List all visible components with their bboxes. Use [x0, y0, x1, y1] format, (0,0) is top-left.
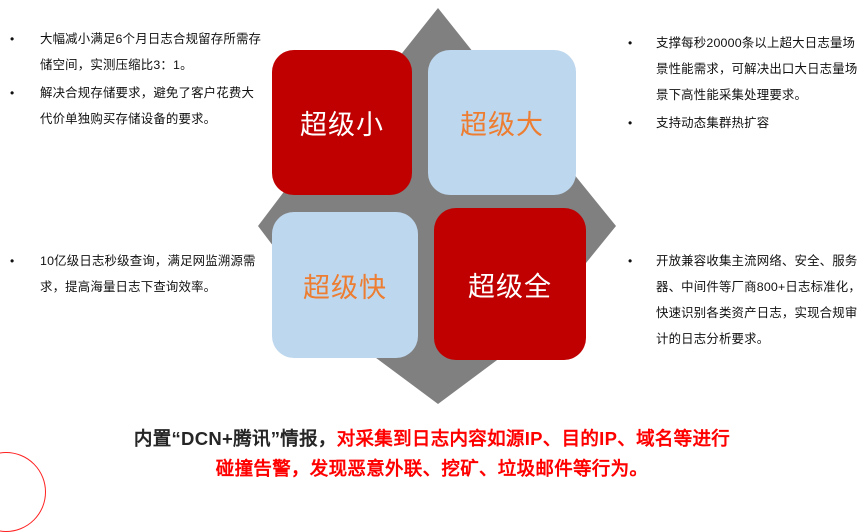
bullet-icon: •: [628, 110, 632, 136]
quadrant-label: 超级全: [468, 265, 552, 304]
quadrant-card-top-left[interactable]: 超级小: [272, 50, 412, 195]
quadrant-card-bottom-right[interactable]: 超级全: [434, 208, 586, 360]
right-top-text-block: • 支撑每秒20000条以上超大日志量场景性能需求，可解决出口大日志量场景下高性…: [612, 30, 864, 138]
bullet-icon: •: [628, 248, 632, 274]
left-bottom-text-block: • 10亿级日志秒级查询，满足网监溯源需求，提高海量日志下查询效率。: [0, 248, 262, 302]
caption-lead-text: 内置“DCN+腾讯”情报，: [134, 428, 337, 449]
list-item-text: 支持动态集群热扩容: [656, 116, 769, 130]
quadrant-card-top-right[interactable]: 超级大: [428, 50, 576, 195]
list-item: • 开放兼容收集主流网络、安全、服务器、中间件等厂商800+日志标准化，快速识别…: [612, 248, 864, 352]
list-item-text: 解决合规存储要求，避免了客户花费大代价单独购买存储设备的要求。: [40, 86, 254, 126]
quadrant-card-bottom-left[interactable]: 超级快: [272, 212, 418, 358]
list-item-text: 10亿级日志秒级查询，满足网监溯源需求，提高海量日志下查询效率。: [40, 254, 256, 294]
bullet-icon: •: [10, 248, 14, 274]
list-item-text: 支撑每秒20000条以上超大日志量场景性能需求，可解决出口大日志量场景下高性能采…: [656, 36, 857, 102]
caption-line-1: 内置“DCN+腾讯”情报，对采集到日志内容如源IP、目的IP、域名等进行: [0, 424, 864, 454]
caption-highlight-line-2: 碰撞告警，发现恶意外联、挖矿、垃圾邮件等行为。: [216, 458, 648, 479]
quadrant-label: 超级小: [300, 103, 384, 142]
caption-highlight-line-1: 对采集到日志内容如源IP、目的IP、域名等进行: [337, 428, 730, 449]
right-bottom-text-block: • 开放兼容收集主流网络、安全、服务器、中间件等厂商800+日志标准化，快速识别…: [612, 248, 864, 354]
caption-line-2: 碰撞告警，发现恶意外联、挖矿、垃圾邮件等行为。: [0, 454, 864, 484]
quadrant-diagram: 超级小 超级大 超级快 超级全: [256, 0, 620, 412]
list-item: • 支撑每秒20000条以上超大日志量场景性能需求，可解决出口大日志量场景下高性…: [612, 30, 864, 108]
list-item: • 10亿级日志秒级查询，满足网监溯源需求，提高海量日志下查询效率。: [0, 248, 262, 300]
bullet-icon: •: [10, 80, 14, 106]
left-top-text-block: • 大幅减小满足6个月日志合规留存所需存储空间，实测压缩比3：1。 • 解决合规…: [0, 26, 262, 134]
list-item: • 大幅减小满足6个月日志合规留存所需存储空间，实测压缩比3：1。: [0, 26, 262, 78]
bottom-caption: 内置“DCN+腾讯”情报，对采集到日志内容如源IP、目的IP、域名等进行 碰撞告…: [0, 424, 864, 484]
list-item-text: 大幅减小满足6个月日志合规留存所需存储空间，实测压缩比3：1。: [40, 32, 261, 72]
quadrant-label: 超级快: [303, 266, 387, 305]
list-item: • 解决合规存储要求，避免了客户花费大代价单独购买存储设备的要求。: [0, 80, 262, 132]
bullet-icon: •: [628, 30, 632, 56]
list-item-text: 开放兼容收集主流网络、安全、服务器、中间件等厂商800+日志标准化，快速识别各类…: [656, 254, 861, 346]
list-item: • 支持动态集群热扩容: [612, 110, 864, 136]
quadrant-label: 超级大: [460, 103, 544, 142]
bullet-icon: •: [10, 26, 14, 52]
